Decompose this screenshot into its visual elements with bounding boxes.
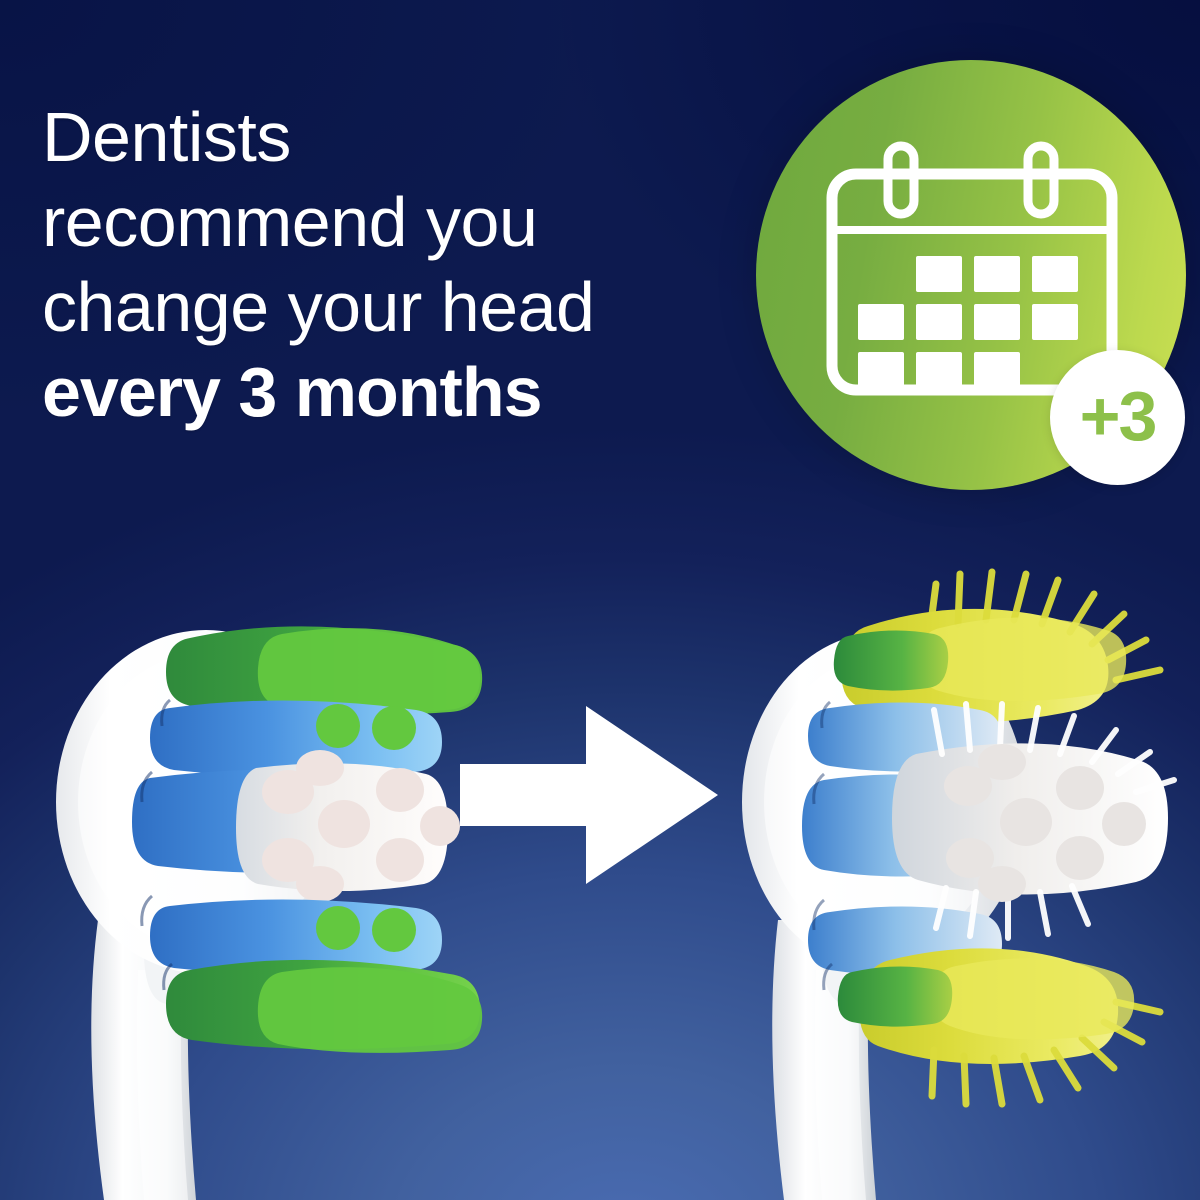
calendar-day-cell — [974, 304, 1020, 340]
calendar-day-cell — [916, 256, 962, 292]
worn-toothbrush-head — [720, 540, 1190, 1200]
calendar-day-grid — [858, 256, 1090, 384]
calendar-day-cell — [1032, 256, 1078, 292]
calendar-day-cell — [858, 256, 904, 292]
headline-line-4: every 3 months — [42, 350, 742, 435]
calendar-day-cell — [916, 304, 962, 340]
calendar-day-cell — [858, 352, 904, 388]
calendar-day-cell — [916, 352, 962, 388]
calendar-day-cell — [858, 304, 904, 340]
headline-line-2: recommend you — [42, 180, 742, 265]
calendar-day-cell — [1032, 304, 1078, 340]
right-arrow-icon — [460, 690, 720, 900]
change-reminder-badge: +3 — [756, 60, 1186, 490]
page-title: Dentists recommend you change your head … — [42, 95, 742, 435]
headline-line-1: Dentists — [42, 95, 742, 180]
status-badge: +3 — [1050, 350, 1185, 485]
calendar-day-cell — [974, 256, 1020, 292]
calendar-day-cell — [974, 352, 1020, 388]
headline-line-3: change your head — [42, 265, 742, 350]
poster-canvas: Dentists recommend you change your head … — [0, 0, 1200, 1200]
plus-three-label: +3 — [1080, 381, 1156, 451]
